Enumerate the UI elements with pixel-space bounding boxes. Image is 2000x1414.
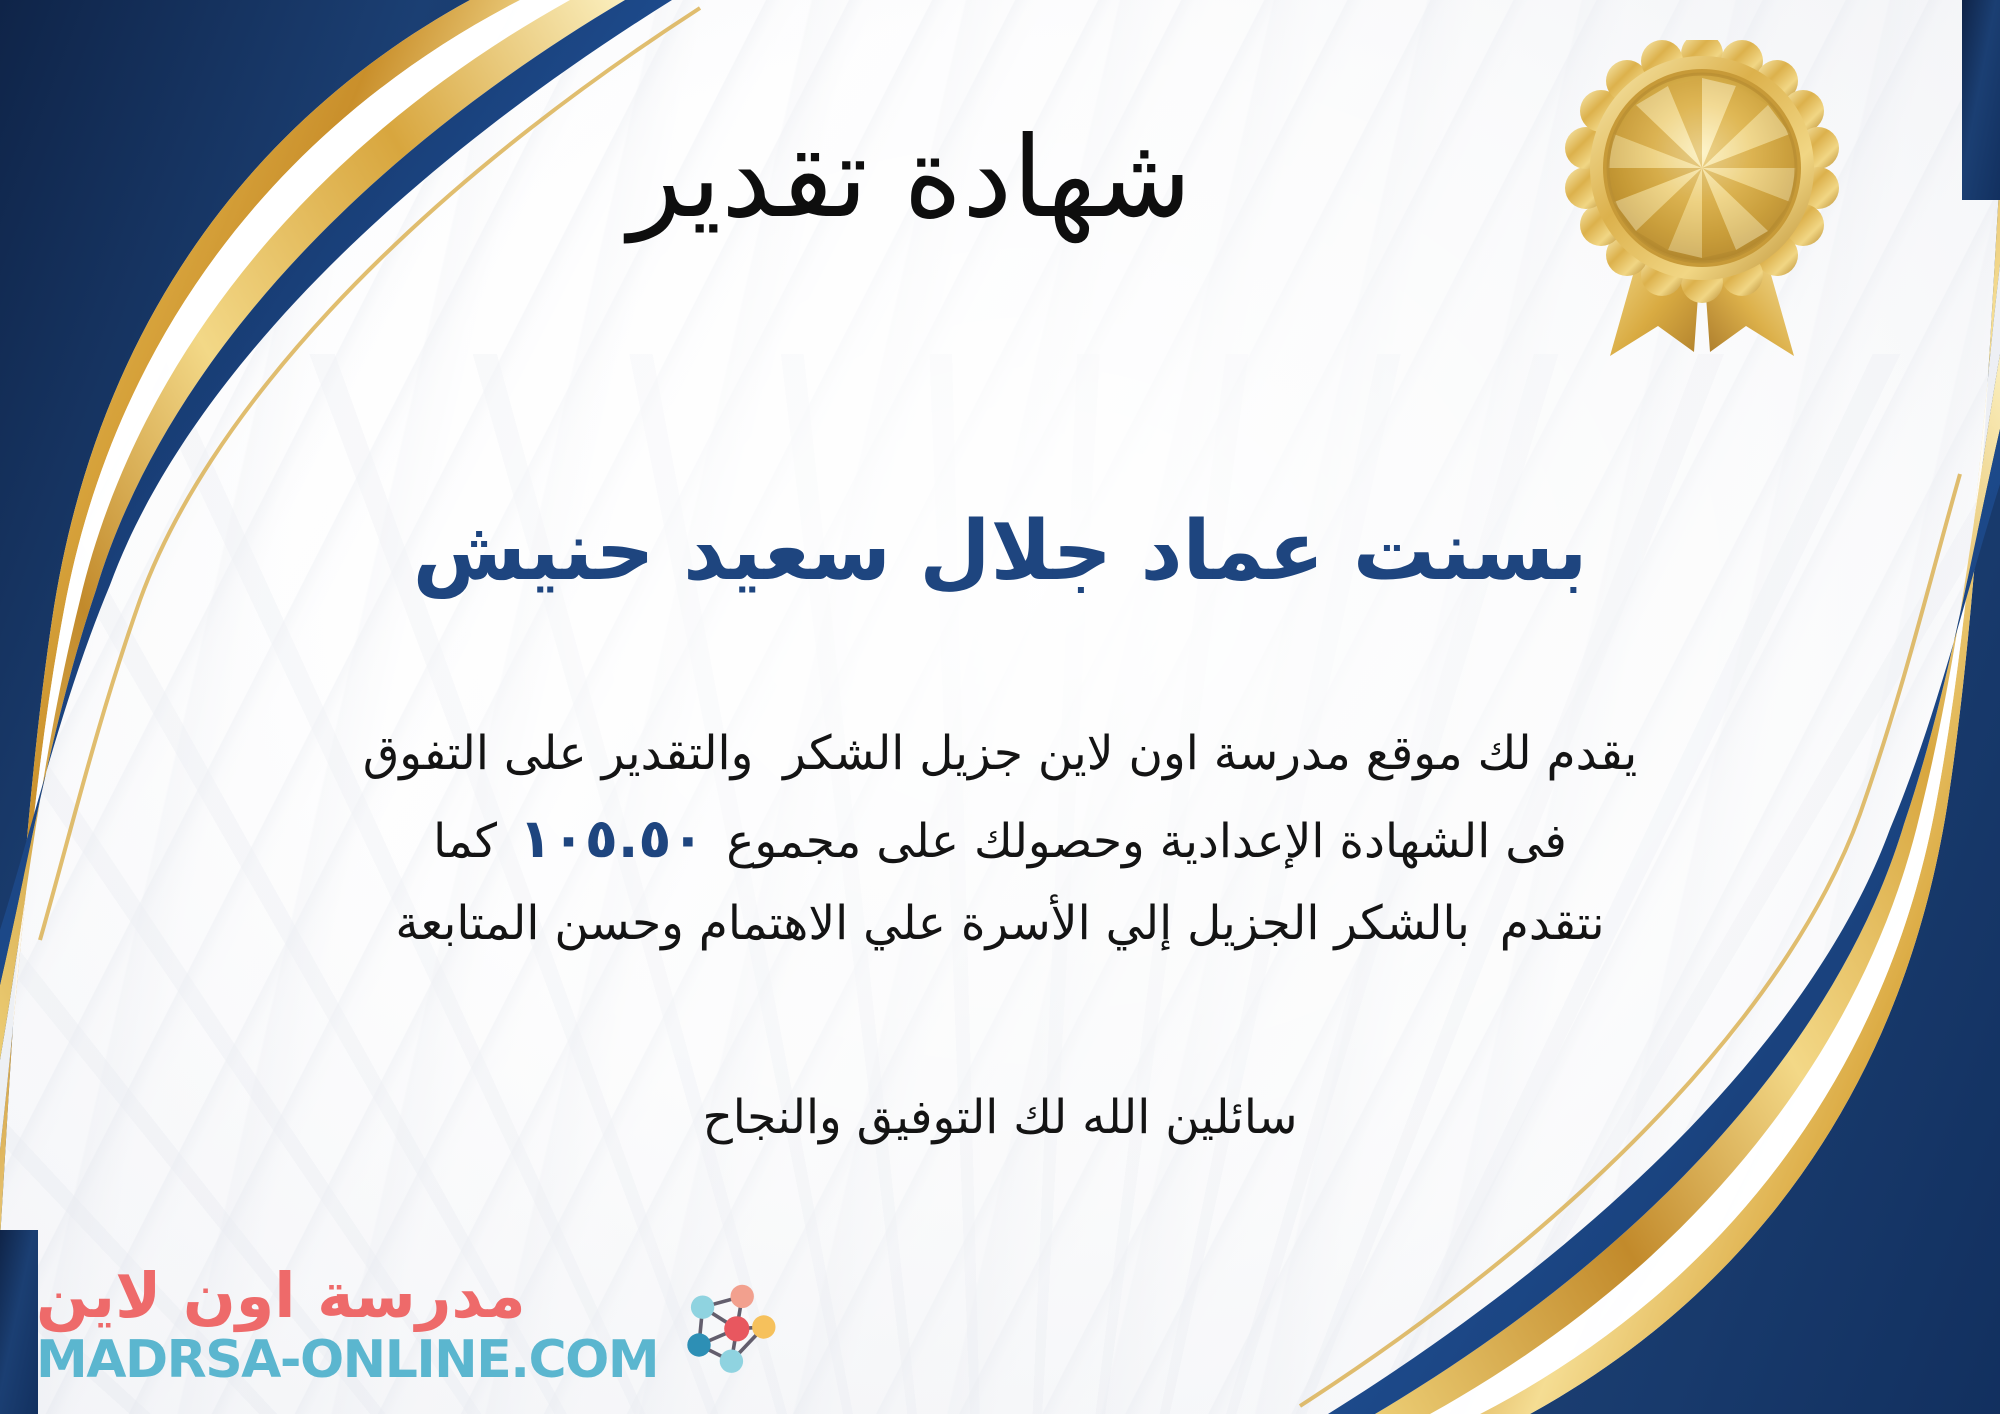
brand-logo: مدرسة اون لاين MADRSA-ONLINE.COM: [36, 1265, 780, 1388]
body-line-3: نتقدم بالشكر الجزيل إلي الأسرة علي الاهت…: [60, 885, 1940, 964]
body-line-2: فى الشهادة الإعدادية وحصولك على مجموع١٠٥…: [60, 794, 1940, 885]
recipient-name: بسنت عماد جلال سعيد حنيش: [0, 505, 2000, 599]
grade-value: ١٠٥.٥٠: [497, 807, 726, 870]
certificate-body: يقدم لك موقع مدرسة اون لاين جزيل الشكر و…: [60, 715, 1940, 964]
body-line-2-after-grade: كما: [433, 814, 497, 869]
closing-line: سائلين الله لك التوفيق والنجاح: [0, 1090, 2000, 1145]
brand-website: MADRSA-ONLINE.COM: [36, 1333, 658, 1388]
body-line-2-before-grade: فى الشهادة الإعدادية وحصولك على مجموع: [726, 814, 1567, 869]
page-title: شهادة تقدير: [0, 120, 2000, 238]
brand-text: مدرسة اون لاين MADRSA-ONLINE.COM: [36, 1265, 658, 1388]
brand-arabic-name: مدرسة اون لاين: [36, 1265, 526, 1327]
certificate-content: شهادة تقدير بسنت عماد جلال سعيد حنيش يقد…: [0, 0, 2000, 1414]
network-nodes-icon: [672, 1273, 780, 1381]
body-line-1: يقدم لك موقع مدرسة اون لاين جزيل الشكر و…: [60, 715, 1940, 794]
certificate-canvas: شهادة تقدير بسنت عماد جلال سعيد حنيش يقد…: [0, 0, 2000, 1414]
